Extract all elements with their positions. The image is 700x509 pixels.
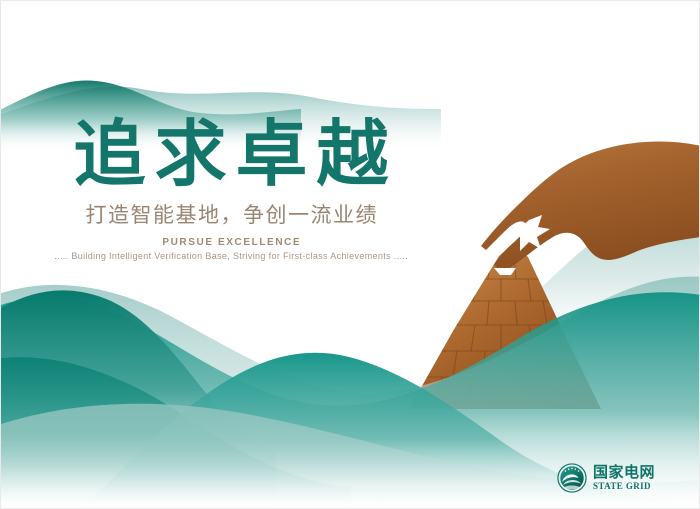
- artboard: 追求卓越 打造智能基地，争创一流业绩 PURSUE EXCELLENCE ...…: [1, 1, 699, 508]
- english-title: PURSUE EXCELLENCE: [1, 237, 461, 248]
- state-grid-globe-icon: [557, 463, 587, 493]
- logo-english-name: STATE GRID: [593, 482, 655, 491]
- state-grid-logo: 国家电网 STATE GRID: [557, 463, 655, 493]
- sub-title: 打造智能基地，争创一流业绩: [1, 203, 461, 228]
- english-tagline: ..... Building Intelligent Verification …: [1, 251, 461, 261]
- logo-chinese-name: 国家电网: [593, 465, 655, 480]
- headline-block: 追求卓越 打造智能基地，争创一流业绩 PURSUE EXCELLENCE ...…: [1, 119, 461, 261]
- page-title: 追求卓越: [1, 119, 461, 191]
- logo-text-block: 国家电网 STATE GRID: [593, 465, 655, 491]
- poster-canvas: 追求卓越 打造智能基地，争创一流业绩 PURSUE EXCELLENCE ...…: [0, 0, 700, 509]
